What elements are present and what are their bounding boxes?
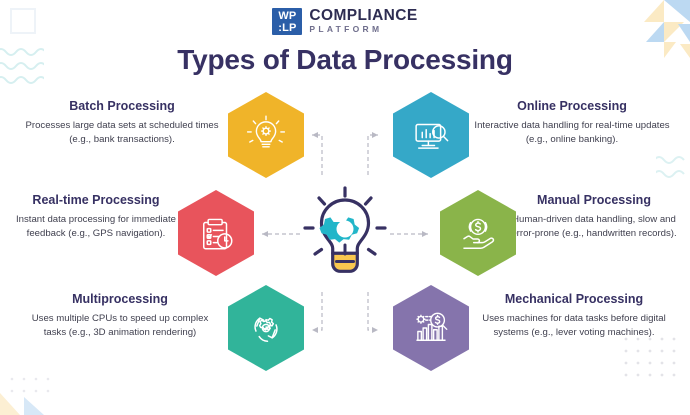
item-description-batch: Processes large data sets at scheduled t… xyxy=(22,119,222,148)
bar-chart-coin-search-icon xyxy=(410,307,452,349)
item-text-batch: Batch Processing Processes large data se… xyxy=(22,98,222,148)
item-description-realtime: Instant data processing for immediate fe… xyxy=(2,213,190,242)
item-title-batch: Batch Processing xyxy=(22,98,222,114)
monitor-chart-search-icon xyxy=(410,114,452,156)
hand-holding-coin-icon xyxy=(457,212,499,254)
item-title-online: Online Processing xyxy=(472,98,672,114)
item-text-manual: Manual Processing Human-driven data hand… xyxy=(500,192,688,242)
item-description-multiprocessing: Uses multiple CPUs to speed up complex t… xyxy=(22,312,218,341)
item-text-realtime: Real-time Processing Instant data proces… xyxy=(2,192,190,242)
item-text-online: Online Processing Interactive data handl… xyxy=(472,98,672,148)
item-title-multiprocessing: Multiprocessing xyxy=(22,291,218,307)
item-title-realtime: Real-time Processing xyxy=(2,192,190,208)
gear-check-cycle-icon xyxy=(245,307,287,349)
item-description-manual: Human-driven data handling, slow and err… xyxy=(500,213,688,242)
infographic-canvas: WP :LP COMPLIANCE PLATFORM Types of Data… xyxy=(0,0,690,415)
lightbulb-gear-idea-icon xyxy=(245,114,287,156)
item-description-online: Interactive data handling for real-time … xyxy=(472,119,672,148)
item-description-mechanical: Uses machines for data tasks before digi… xyxy=(470,312,678,341)
item-text-multiprocessing: Multiprocessing Uses multiple CPUs to sp… xyxy=(22,291,218,341)
item-title-manual: Manual Processing xyxy=(500,192,688,208)
item-title-mechanical: Mechanical Processing xyxy=(470,291,678,307)
center-lightbulb-gear-icon xyxy=(303,186,387,282)
item-text-mechanical: Mechanical Processing Uses machines for … xyxy=(470,291,678,341)
clipboard-checklist-clock-icon xyxy=(195,212,237,254)
